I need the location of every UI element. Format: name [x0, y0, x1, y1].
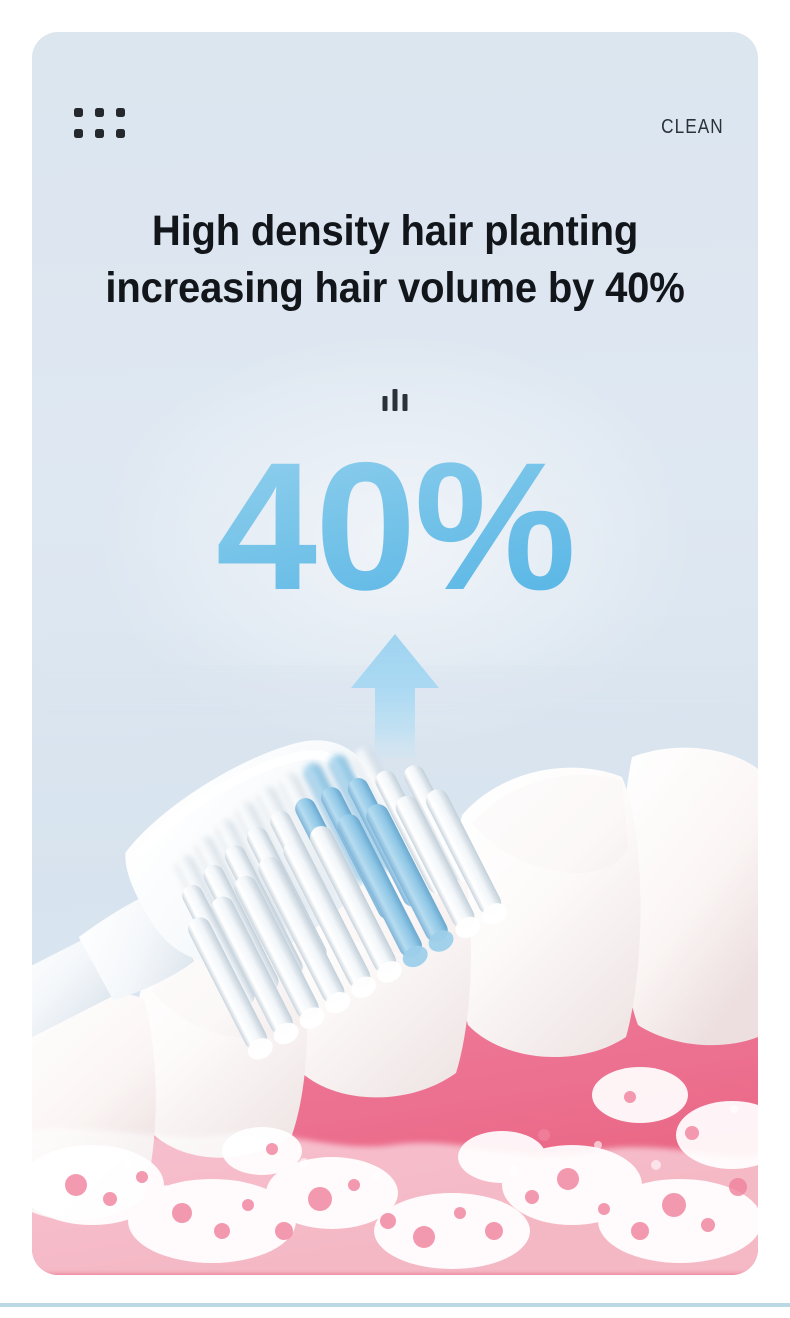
grid-dots-icon[interactable]	[74, 108, 125, 138]
up-arrow-icon	[347, 630, 443, 760]
tick-bar	[403, 394, 408, 411]
dot	[116, 129, 125, 138]
up-arrow-svg	[347, 630, 443, 760]
mode-label-clean: CLEAN	[661, 116, 724, 139]
bristle-tick-mark	[383, 387, 408, 411]
dot	[95, 129, 104, 138]
bottom-divider	[0, 1303, 790, 1307]
headline-line-2: increasing hair volume by 40%	[57, 260, 732, 317]
page-root: CLEAN High density hair planting increas…	[0, 0, 790, 1318]
dot	[116, 108, 125, 117]
feature-card: CLEAN High density hair planting increas…	[32, 32, 758, 1275]
tooth	[621, 748, 758, 1046]
dot	[74, 129, 83, 138]
headline: High density hair planting increasing ha…	[32, 203, 758, 317]
headline-line-1: High density hair planting	[57, 203, 732, 260]
card-topbar: CLEAN	[32, 32, 758, 152]
highlight-percentage: 40%	[32, 436, 758, 616]
dot	[74, 108, 83, 117]
tick-bar	[393, 389, 398, 411]
tick-bar	[383, 396, 388, 411]
dot	[95, 108, 104, 117]
